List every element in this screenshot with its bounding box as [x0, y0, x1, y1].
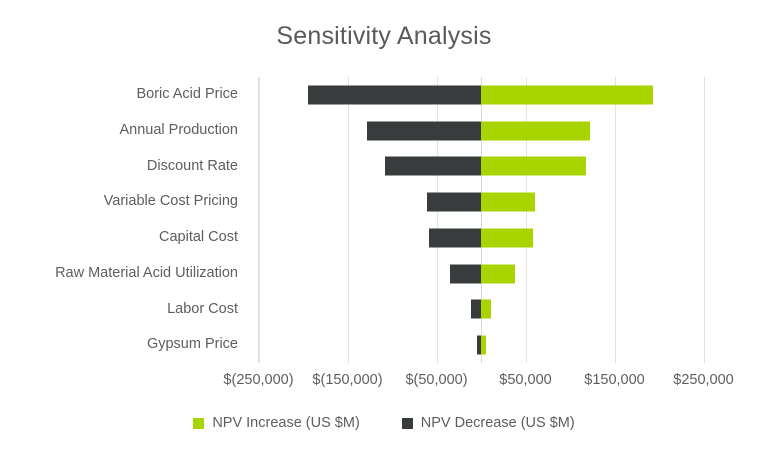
bar-row [258, 184, 703, 220]
bar-npv-decrease[interactable] [367, 121, 481, 140]
y-axis-label: Variable Cost Pricing [0, 184, 244, 220]
y-axis-category-labels: Boric Acid PriceAnnual ProductionDiscoun… [0, 77, 244, 363]
legend-label: NPV Decrease (US $M) [421, 415, 575, 431]
legend-label: NPV Increase (US $M) [212, 415, 359, 431]
bar-npv-increase[interactable] [481, 336, 486, 355]
bar-npv-increase[interactable] [481, 193, 535, 212]
bar-npv-increase[interactable] [481, 85, 653, 104]
gridline-5 [704, 77, 705, 363]
x-axis-tick-label: $(50,000) [405, 372, 467, 388]
bar-npv-decrease[interactable] [471, 300, 481, 319]
y-axis-label: Labor Cost [0, 292, 244, 328]
legend-swatch-icon [402, 418, 413, 429]
y-axis-label: Annual Production [0, 113, 244, 149]
bar-npv-decrease[interactable] [450, 264, 481, 283]
y-axis-label: Raw Material Acid Utilization [0, 256, 244, 292]
chart-title: Sensitivity Analysis [0, 22, 768, 51]
x-axis-tick-label: $250,000 [673, 372, 733, 388]
bar-npv-decrease[interactable] [308, 85, 481, 104]
bar-npv-increase[interactable] [481, 264, 515, 283]
sensitivity-analysis-chart: Sensitivity Analysis Boric Acid PriceAnn… [0, 0, 768, 461]
bar-row [258, 256, 703, 292]
x-axis-tick-label: $(250,000) [223, 372, 293, 388]
bar-npv-increase[interactable] [481, 228, 533, 247]
bar-row [258, 77, 703, 113]
x-axis-tick-label: $50,000 [499, 372, 551, 388]
bar-npv-increase[interactable] [481, 300, 491, 319]
bar-npv-decrease[interactable] [385, 157, 481, 176]
bar-npv-decrease[interactable] [427, 193, 481, 212]
bar-row [258, 113, 703, 149]
bar-row [258, 327, 703, 363]
bar-npv-increase[interactable] [481, 157, 586, 176]
x-axis-tick-label: $150,000 [584, 372, 644, 388]
bar-row [258, 149, 703, 185]
bar-npv-decrease[interactable] [429, 228, 481, 247]
bar-npv-increase[interactable] [481, 121, 590, 140]
bar-row [258, 220, 703, 256]
y-axis-label: Discount Rate [0, 149, 244, 185]
y-axis-label: Boric Acid Price [0, 77, 244, 113]
x-axis-tick-label: $(150,000) [312, 372, 382, 388]
chart-legend: NPV Increase (US $M)NPV Decrease (US $M) [0, 415, 768, 431]
legend-item-npv-increase[interactable]: NPV Increase (US $M) [193, 415, 359, 431]
legend-item-npv-decrease[interactable]: NPV Decrease (US $M) [402, 415, 575, 431]
legend-swatch-icon [193, 418, 204, 429]
plot-area [258, 77, 703, 363]
x-axis-tick-labels: $(250,000)$(150,000)$(50,000)$50,000$150… [0, 372, 768, 396]
y-axis-label: Gypsum Price [0, 327, 244, 363]
y-axis-label: Capital Cost [0, 220, 244, 256]
bar-row [258, 292, 703, 328]
